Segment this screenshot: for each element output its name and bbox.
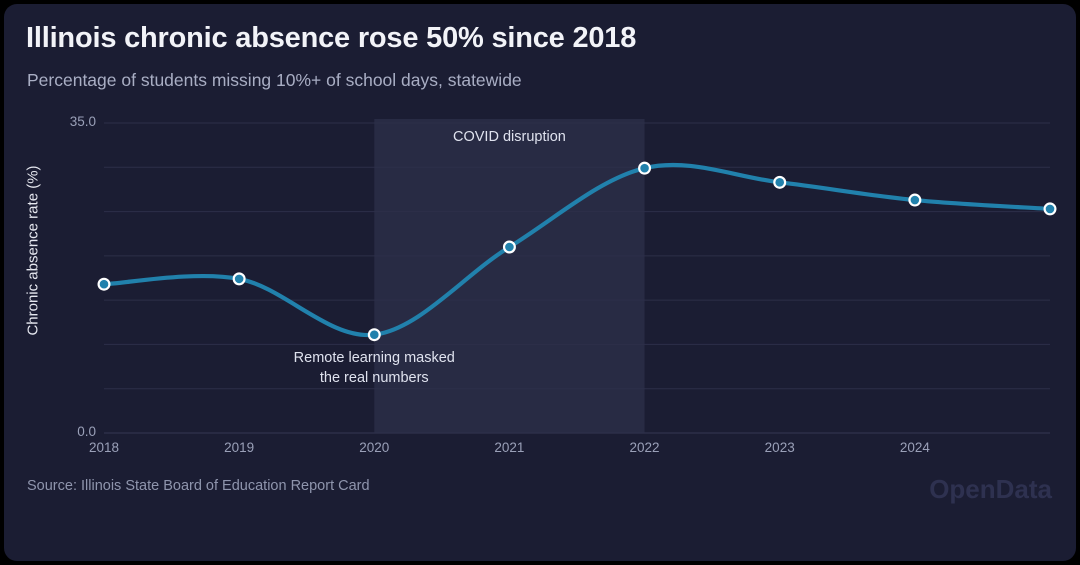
y-axis-title: Chronic absence rate (%) — [25, 136, 42, 366]
data-point-marker — [99, 279, 110, 290]
x-axis-tick-2018: 2018 — [64, 440, 144, 455]
data-point-marker — [909, 195, 920, 206]
y-axis-tick-bottom: 0.0 — [28, 424, 96, 439]
x-axis-tick-2022: 2022 — [605, 440, 685, 455]
x-axis-tick-2020: 2020 — [334, 440, 414, 455]
x-axis-tick-2021: 2021 — [469, 440, 549, 455]
data-point-marker — [504, 242, 515, 253]
data-point-marker — [369, 329, 380, 340]
source-note: Source: Illinois State Board of Educatio… — [27, 478, 370, 494]
x-axis-tick-2023: 2023 — [740, 440, 820, 455]
remote-learning-annotation-line1: Remote learning masked — [269, 348, 479, 368]
y-axis-tick-top: 35.0 — [28, 114, 96, 129]
data-point-marker — [234, 273, 245, 284]
chart-card: Illinois chronic absence rose 50% since … — [4, 4, 1076, 561]
remote-learning-annotation: Remote learning masked the real numbers — [269, 348, 479, 388]
data-point-marker — [1045, 204, 1056, 215]
data-point-marker — [774, 177, 785, 188]
watermark-opendata: OpenData — [929, 474, 1052, 505]
remote-learning-annotation-line2: the real numbers — [269, 368, 479, 388]
x-axis-tick-2024: 2024 — [875, 440, 955, 455]
data-point-marker — [639, 163, 650, 174]
x-axis-tick-2019: 2019 — [199, 440, 279, 455]
covid-disruption-annotation: COVID disruption — [409, 127, 609, 147]
